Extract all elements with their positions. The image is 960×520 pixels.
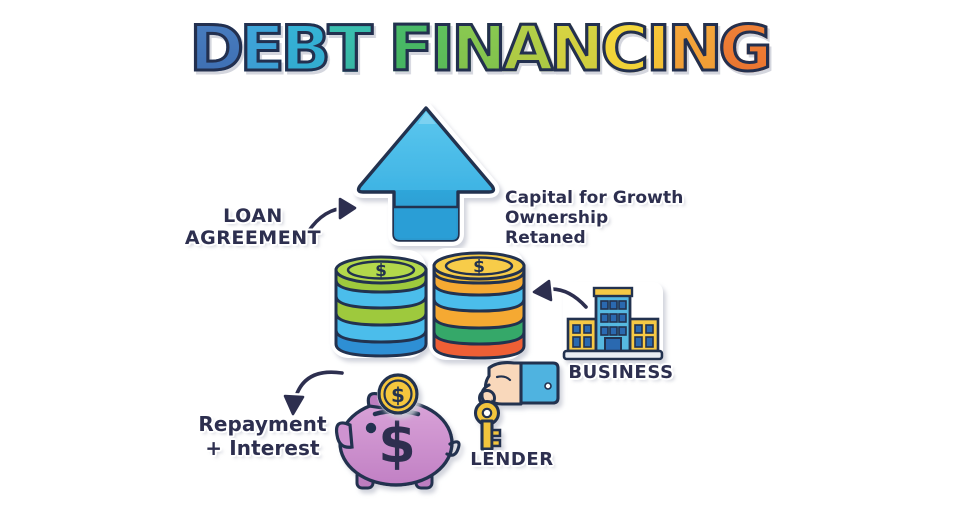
business-label: BUSINESS xyxy=(556,362,686,383)
capital-for-growth-label: Capital for Growth Ownership Retaned xyxy=(505,188,695,248)
lender-label: LENDER xyxy=(452,449,572,470)
falling-coin-icon: $ xyxy=(377,373,419,415)
coin-stack-right: $ xyxy=(428,248,524,360)
loan-agreement-label: LOAN AGREEMENT xyxy=(178,205,328,250)
arrow-piggy-to-repayment-icon xyxy=(285,372,342,414)
coin-dollar-sign-right: $ xyxy=(473,257,485,277)
up-arrow-icon xyxy=(359,108,494,240)
illustration-layer: $ $ xyxy=(0,0,960,520)
piggy-dollar-sign: $ xyxy=(378,412,416,475)
falling-coin-dollar-sign: $ xyxy=(391,383,405,407)
infographic-canvas: DEBTFINANCING xyxy=(0,0,960,520)
coin-stack-left: $ xyxy=(330,250,426,358)
repayment-interest-label: Repayment + Interest xyxy=(185,413,340,460)
coin-dollar-sign-left: $ xyxy=(375,261,387,281)
hand-with-key-icon xyxy=(476,363,559,449)
